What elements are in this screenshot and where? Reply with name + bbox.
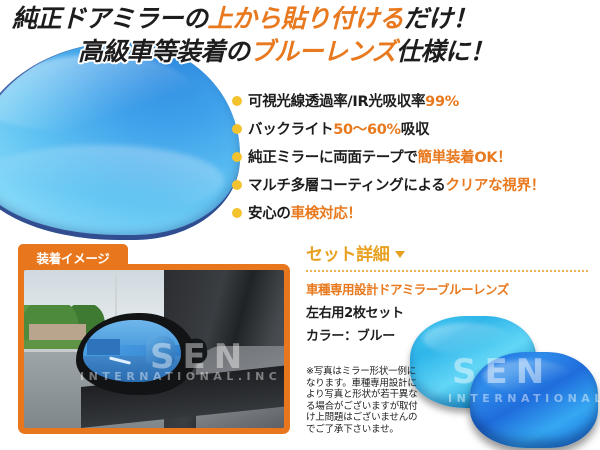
feature-text-main: 可視光線透過率/IR光吸収率 — [248, 94, 425, 110]
set-details-header[interactable]: セット詳細 — [306, 240, 596, 265]
feature-list: 可視光線透過率/IR光吸収率99% バックライト50〜60%吸収 純正ミラーに両… — [232, 90, 596, 230]
installation-photo — [24, 270, 284, 428]
feature-text: マルチ多層コーティングによるクリアな視界！ — [248, 174, 545, 195]
set-color: カラー：ブルー — [306, 325, 596, 344]
headline: 純正ドアミラーの上から貼り付けるだけ！ 高級車等装着のブルーレンズ仕様に！ — [0, 4, 600, 68]
installation-photo-panel: 装着イメージ — [18, 264, 290, 434]
headline-line-2-part-1: 高級車等装着の — [78, 37, 250, 66]
headline-line-2: 高級車等装着のブルーレンズ仕様に！ — [0, 36, 600, 68]
feature-text-main: マルチ多層コーティングによる — [248, 178, 446, 194]
feature-text-main: バックライト — [248, 122, 333, 138]
headline-line-1: 純正ドアミラーの上から貼り付けるだけ！ — [0, 4, 600, 34]
feature-text: 純正ミラーに両面テープで簡単装着OK！ — [248, 146, 512, 167]
lens-gloss-highlight — [483, 360, 573, 393]
advertisement-banner: 純正ドアミラーの上から貼り付けるだけ！ 高級車等装着のブルーレンズ仕様に！ 可視… — [0, 0, 600, 450]
hero-mirror-lens-graphic — [0, 42, 240, 240]
feature-item: 安心の車検対応！ — [232, 202, 596, 223]
product-lens-front — [470, 352, 598, 448]
disclaimer-text: ※写真はミラー形状一例になります。車種専用設計により写真と形状が若干異なる場合が… — [306, 366, 424, 435]
feature-item: 純正ミラーに両面テープで簡単装着OK！ — [232, 146, 596, 167]
photo-mirror-reflection-building — [87, 339, 120, 355]
headline-line-1-part-1: 純正ドアミラーの — [12, 4, 208, 33]
feature-item: 可視光線透過率/IR光吸収率99% — [232, 90, 596, 111]
bullet-dot-icon — [232, 124, 242, 134]
feature-item: マルチ多層コーティングによるクリアな視界！ — [232, 174, 596, 195]
dotted-divider — [306, 270, 588, 272]
feature-text: 可視光線透過率/IR光吸収率99% — [248, 90, 459, 111]
feature-text-highlight: 簡単装着OK！ — [418, 150, 512, 166]
bullet-dot-icon — [232, 96, 242, 106]
product-name: 車種専用設計ドアミラーブルーレンズ — [306, 279, 596, 298]
feature-text-tail: 吸収 — [401, 122, 429, 138]
headline-line-2-part-3: 仕様に！ — [396, 37, 494, 66]
bullet-dot-icon — [232, 180, 242, 190]
photo-panel-tab-label: 装着イメージ — [18, 244, 128, 270]
set-quantity: 左右用2枚セット — [306, 302, 596, 321]
feature-text-main: 安心の — [248, 206, 291, 222]
set-details-title: セット詳細 — [306, 240, 390, 265]
feature-text: バックライト50〜60%吸収 — [248, 118, 429, 139]
feature-text-main: 純正ミラーに両面テープで — [248, 150, 418, 166]
set-details-section: セット詳細 車種専用設計ドアミラーブルーレンズ 左右用2枚セット カラー：ブルー — [306, 240, 596, 344]
bullet-dot-icon — [232, 208, 242, 218]
headline-line-1-part-3: だけ！ — [404, 4, 478, 33]
chevron-down-icon[interactable] — [395, 251, 405, 258]
feature-text-highlight: 車検対応！ — [291, 206, 362, 222]
headline-line-2-part-2: ブルーレンズ — [250, 37, 397, 66]
feature-text: 安心の車検対応！ — [248, 202, 362, 223]
photo-side-mirror — [76, 313, 196, 395]
feature-text-highlight: クリアな視界！ — [446, 178, 545, 194]
feature-text-highlight: 50〜60% — [333, 122, 401, 138]
photo-mirror-blue-glass — [83, 320, 181, 382]
feature-item: バックライト50〜60%吸収 — [232, 118, 596, 139]
headline-line-1-part-2: 上から貼り付ける — [208, 4, 404, 33]
photo-mirror-reflection-car — [146, 336, 175, 363]
bullet-dot-icon — [232, 152, 242, 162]
feature-text-highlight: 99% — [425, 94, 459, 110]
